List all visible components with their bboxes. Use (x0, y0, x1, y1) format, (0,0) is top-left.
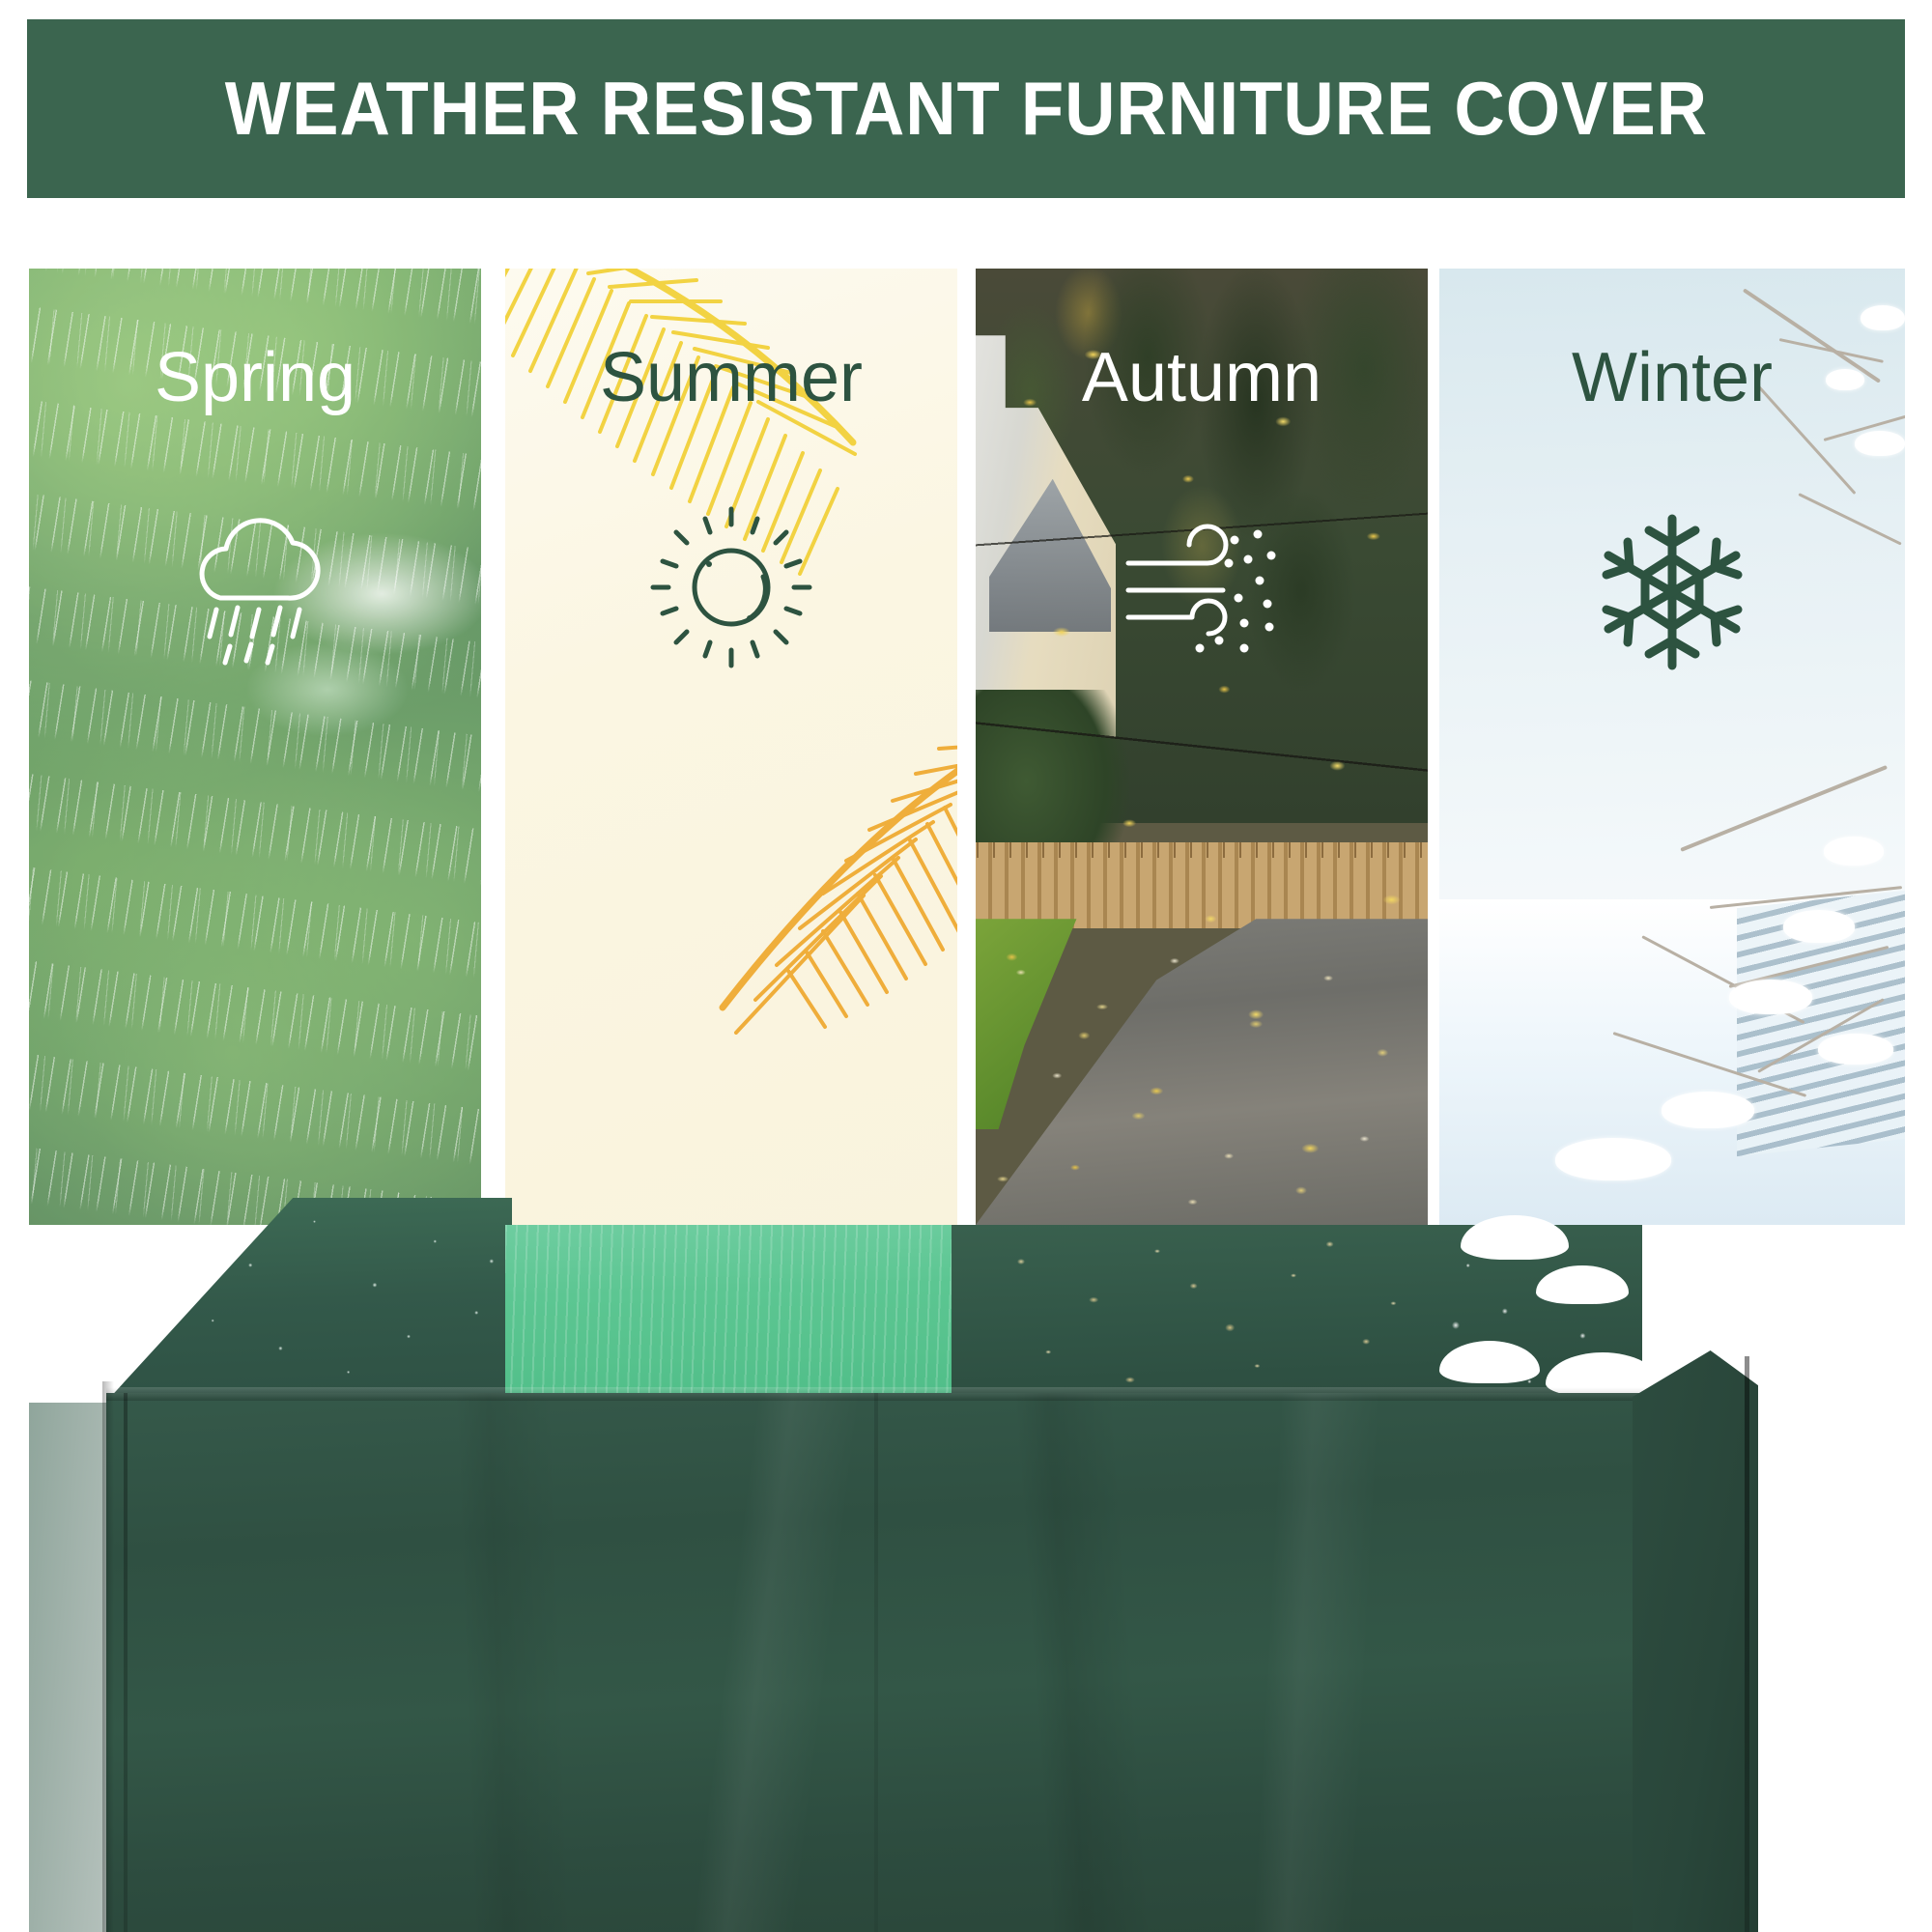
cover-top-fold-seam (106, 1387, 1756, 1401)
cover-top-lit-section (505, 1225, 957, 1402)
cover-corner-seam (1745, 1356, 1749, 1932)
cover-right-corner (1633, 1350, 1758, 1932)
season-label-winter: Winter (1439, 338, 1905, 417)
promo-graphic: WEATHER RESISTANT FURNITURE COVER Spring (0, 0, 1932, 1932)
cover-left-side-panel (29, 1403, 112, 1932)
season-label-autumn: Autumn (976, 338, 1428, 417)
wind-icon (1115, 505, 1289, 674)
cover-snow-pile (1461, 1215, 1569, 1260)
cover-front-face (106, 1393, 1756, 1932)
cover-seam (874, 1393, 878, 1932)
sun-icon (649, 505, 813, 674)
cover-seam (124, 1393, 128, 1932)
cover-leaf-debris (976, 1227, 1430, 1401)
cover-left-edge-shadow (102, 1381, 114, 1932)
season-label-summer: Summer (505, 338, 957, 417)
cover-water-droplets (145, 1198, 522, 1396)
season-label-spring: Spring (29, 338, 481, 417)
rain-cloud-icon (178, 505, 332, 674)
snowflake-icon (1585, 505, 1759, 684)
furniture-cover (0, 0, 1932, 1932)
